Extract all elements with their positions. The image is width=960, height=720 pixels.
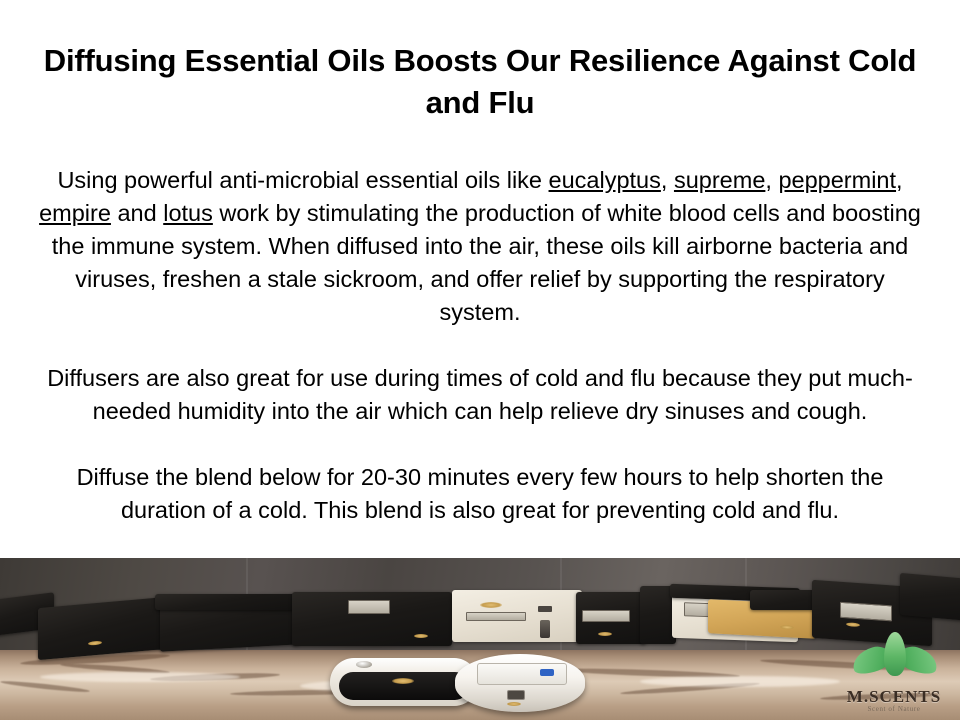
brand-emblem-icon (507, 702, 521, 706)
control-panel (477, 663, 567, 685)
par1-segment-0: Using powerful anti-microbial essential … (57, 167, 548, 193)
display-screen (348, 600, 390, 614)
diffuser-unit (576, 592, 646, 644)
round-diffuser-foreground (455, 654, 585, 712)
brand-emblem-icon (88, 641, 102, 646)
logo-tagline: Scent of Nature (842, 705, 946, 714)
diffuser-unit (452, 590, 582, 642)
leaf-icon (842, 630, 946, 688)
par1-segment-4: , (765, 167, 778, 193)
par1-segment-8: and (111, 200, 163, 226)
display-screen (582, 610, 630, 622)
brand-emblem-icon (780, 625, 794, 630)
brand-emblem-icon (392, 678, 414, 684)
display-screen (840, 602, 892, 622)
logo-brand-name: M.SCENTS (842, 688, 946, 705)
diffuser-photo: M.SCENTS Scent of Nature (0, 558, 960, 720)
oil-name-peppermint: peppermint (778, 167, 896, 193)
diffuser-unit-top (155, 594, 300, 610)
oil-name-eucalyptus: eucalyptus (549, 167, 661, 193)
diffuser-unit (900, 573, 960, 621)
par1-segment-2: , (661, 167, 674, 193)
slide-text-area: Diffusing Essential Oils Boosts Our Resi… (0, 0, 960, 558)
brand-emblem-icon (846, 622, 860, 627)
brand-emblem-icon (414, 634, 428, 638)
diffuser-mesh-panel (339, 672, 469, 700)
oil-name-empire: empire (39, 200, 111, 226)
leaf-center-icon (884, 632, 906, 676)
body-paragraph-3: Diffuse the blend below for 20-30 minute… (24, 461, 936, 527)
diffuser-unit (292, 592, 452, 646)
oil-name-supreme: supreme (674, 167, 765, 193)
usb-port-icon (507, 690, 525, 700)
oil-name-lotus: lotus (163, 200, 213, 226)
diffuser-vent-icon (356, 661, 372, 668)
page-title: Diffusing Essential Oils Boosts Our Resi… (24, 0, 936, 124)
brand-emblem-icon (480, 602, 502, 608)
brand-emblem-icon (598, 632, 612, 636)
brand-logo: M.SCENTS Scent of Nature (842, 630, 946, 716)
slide-canvas: Diffusing Essential Oils Boosts Our Resi… (0, 0, 960, 720)
display-screen (466, 612, 526, 621)
body-paragraph-2: Diffusers are also great for use during … (24, 362, 936, 428)
power-button-icon (540, 669, 554, 676)
body-paragraph-1: Using powerful anti-microbial essential … (24, 164, 936, 329)
par1-segment-6: , (896, 167, 903, 193)
